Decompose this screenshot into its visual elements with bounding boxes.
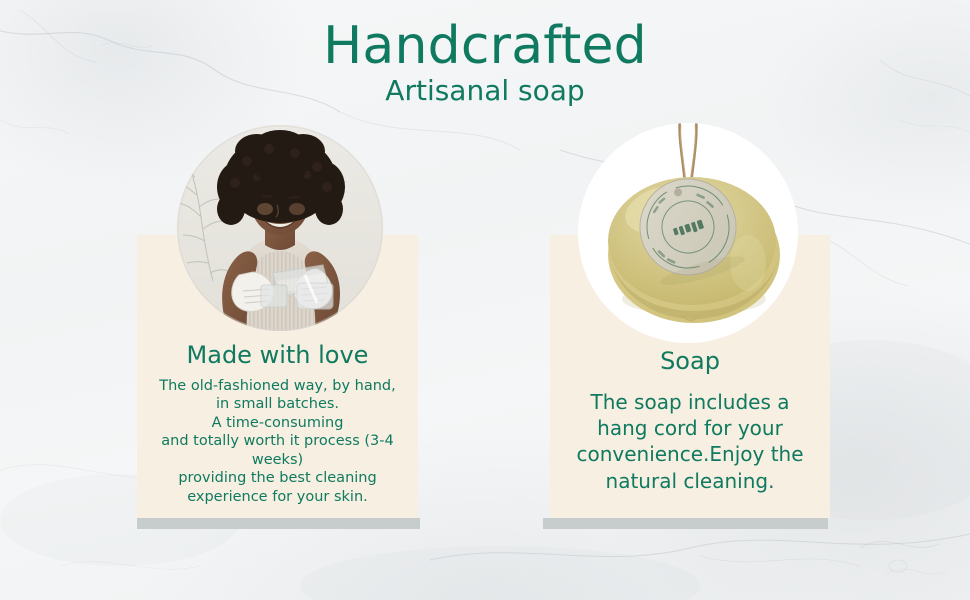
card-description: The soap includes a hang cord for your c… [550,389,830,495]
card-shadow-bar [137,518,420,529]
woman-making-soap-photo [177,125,383,331]
page-subtitle: Artisanal soap [0,76,970,107]
round-soap-with-hang-cord-photo [578,123,798,343]
card-text-block: Made with love The old-fashioned way, by… [137,342,418,506]
page-title: Handcrafted [0,18,970,74]
card-title: Soap [550,348,830,376]
card-text-block: Soap The soap includes a hang cord for y… [550,348,830,494]
card-shadow-bar [543,518,828,529]
page-heading: Handcrafted Artisanal soap [0,18,970,107]
card-description: The old-fashioned way, by hand, in small… [137,377,418,507]
card-title: Made with love [137,342,418,370]
